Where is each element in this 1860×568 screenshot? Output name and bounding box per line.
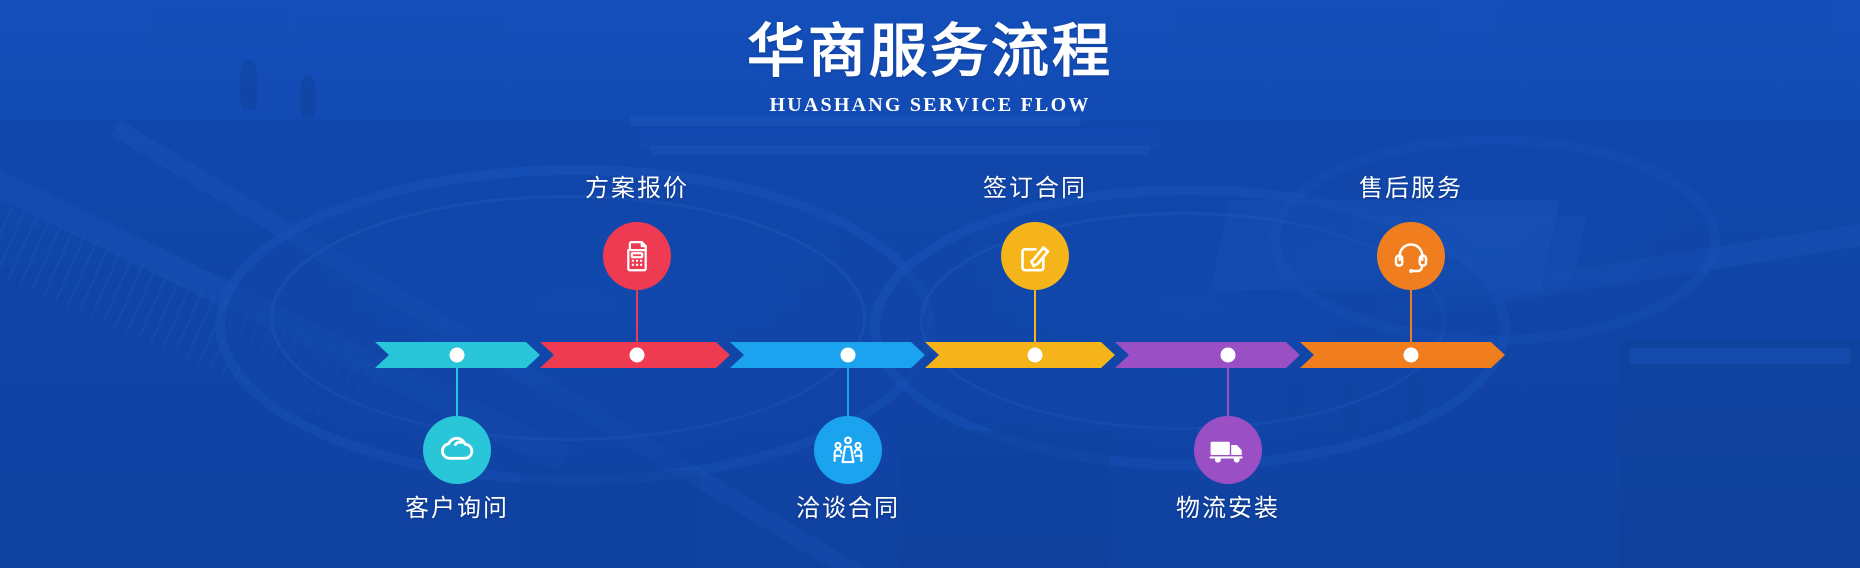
flow-step-dot-1 <box>450 348 465 363</box>
flow-step-icon-5[interactable] <box>1194 416 1262 484</box>
flow-step-dot-2 <box>630 348 645 363</box>
flow-step-dot-6 <box>1404 348 1419 363</box>
flow-segment-3[interactable] <box>730 342 925 368</box>
flow-connector-5 <box>1227 355 1229 416</box>
flow-segment-5[interactable] <box>1115 342 1300 368</box>
flow-step-label-1: 客户询问 <box>405 488 509 523</box>
flow-segment-4[interactable] <box>925 342 1115 368</box>
service-flow-diagram: 客户询问方案报价洽谈合同签订合同物流安装售后服务 <box>0 0 1860 568</box>
flow-step-label-5: 物流安装 <box>1176 488 1280 523</box>
flow-step-label-4: 签订合同 <box>983 168 1087 203</box>
flow-segment-6[interactable] <box>1300 342 1505 368</box>
flow-step-icon-2[interactable] <box>603 222 671 290</box>
truck-icon <box>1206 428 1250 472</box>
flow-arrow-bar <box>375 342 1505 368</box>
flow-connector-4 <box>1034 290 1036 355</box>
flow-step-icon-3[interactable] <box>814 416 882 484</box>
flow-step-dot-5 <box>1221 348 1236 363</box>
flow-connector-2 <box>636 290 638 355</box>
flow-step-icon-6[interactable] <box>1377 222 1445 290</box>
flow-step-dot-4 <box>1028 348 1043 363</box>
cloud-icon <box>437 430 477 470</box>
flow-step-icon-1[interactable] <box>423 416 491 484</box>
flow-step-icon-4[interactable] <box>1001 222 1069 290</box>
flow-step-label-6: 售后服务 <box>1359 168 1463 203</box>
flow-step-label-2: 方案报价 <box>585 168 689 203</box>
headset-icon <box>1391 236 1431 276</box>
service-flow-banner: 华商服务流程 HUASHANG SERVICE FLOW 客户询问方案报价洽谈合… <box>0 0 1860 568</box>
meeting-icon <box>828 430 868 470</box>
flow-connector-3 <box>847 355 849 416</box>
flow-connector-6 <box>1410 290 1412 355</box>
calculator-icon <box>618 237 656 275</box>
flow-step-label-3: 洽谈合同 <box>796 488 900 523</box>
flow-connector-1 <box>456 355 458 416</box>
flow-step-dot-3 <box>841 348 856 363</box>
sign-contract-icon <box>1015 236 1055 276</box>
